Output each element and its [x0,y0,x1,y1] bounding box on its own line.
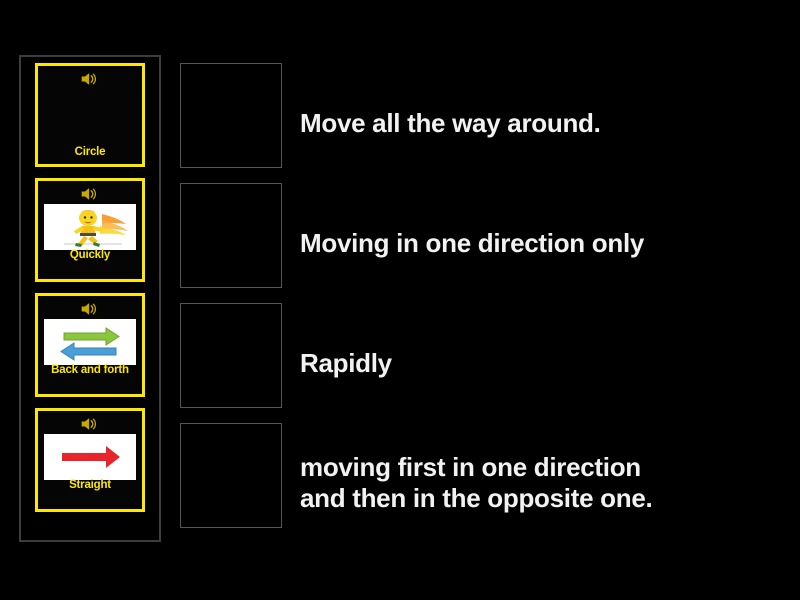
speaker-icon[interactable] [80,301,100,317]
dropzone-2[interactable] [180,183,282,288]
answer-line: Move all the way around. [300,108,601,139]
draggable-cards-panel: Circle [19,55,161,542]
speaker-icon[interactable] [80,186,100,202]
card-media-two-arrows [44,319,136,365]
card-media-red-arrow [44,434,136,480]
answer-line: Moving in one direction only [300,228,644,259]
card-label: Straight [69,480,111,498]
answer-row: Move all the way around. [300,63,770,183]
speaker-icon[interactable] [80,416,100,432]
card-label: Back and forth [51,365,129,383]
running-character-icon [44,204,136,250]
answer-row: Moving in one direction only [300,183,770,303]
dropzone-3[interactable] [180,303,282,408]
dropzone-4[interactable] [180,423,282,528]
card-media-empty [44,87,136,147]
card-media-running-character [44,204,136,250]
card-back-and-forth[interactable]: Back and forth [35,293,145,397]
card-circle[interactable]: Circle [35,63,145,167]
answer-text: Rapidly [300,348,392,379]
dropzone-1[interactable] [180,63,282,168]
answer-line: moving first in one direction [300,452,652,483]
answer-line: Rapidly [300,348,392,379]
answer-line: and then in the opposite one. [300,483,652,514]
answer-text: moving first in one direction and then i… [300,452,652,513]
straight-arrow-icon [44,434,136,480]
answer-text: Move all the way around. [300,108,601,139]
card-label: Circle [75,147,106,165]
answer-row: Rapidly [300,303,770,423]
dropzone-column [180,63,282,543]
answers-column: Move all the way around. Moving in one d… [300,63,770,543]
card-quickly[interactable]: Quickly [35,178,145,282]
card-straight[interactable]: Straight [35,408,145,512]
card-label: Quickly [70,250,110,268]
answer-text: Moving in one direction only [300,228,644,259]
answer-row: moving first in one direction and then i… [300,423,770,543]
back-and-forth-arrows-icon [44,319,136,365]
speaker-icon[interactable] [80,71,100,87]
